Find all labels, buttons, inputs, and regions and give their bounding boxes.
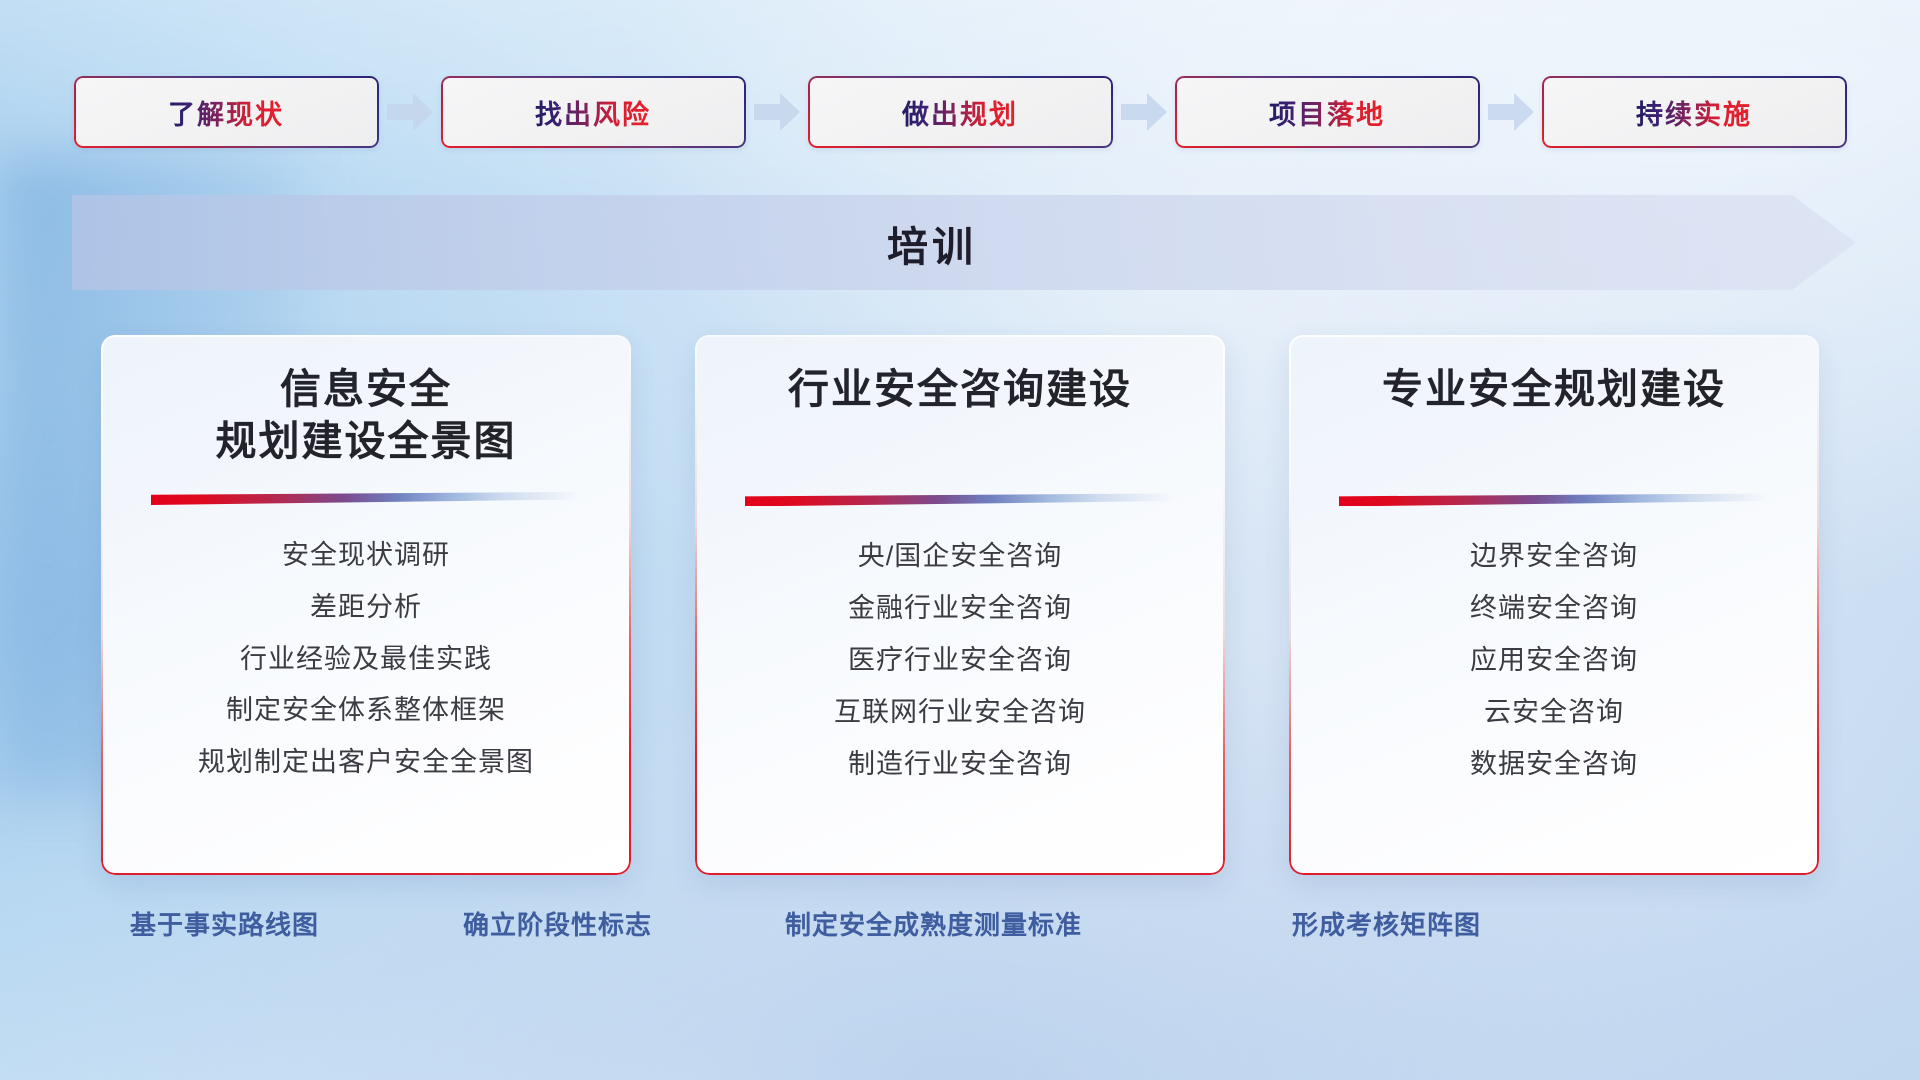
training-banner-title: 培训 bbox=[887, 213, 977, 273]
service-card-inner: 行业安全咨询建设央/国企安全咨询金融行业安全咨询医疗行业安全咨询互联网行业安全咨… bbox=[695, 335, 1225, 875]
service-card-list: 央/国企安全咨询金融行业安全咨询医疗行业安全咨询互联网行业安全咨询制造行业安全咨… bbox=[834, 536, 1086, 785]
training-banner-shape: 培训 bbox=[72, 195, 1856, 290]
arrow-right-icon bbox=[754, 93, 800, 131]
service-card-list-item: 数据安全咨询 bbox=[1470, 744, 1638, 786]
footer-label-row: 基于事实路线图确立阶段性标志制定安全成熟度测量标准形成考核矩阵图 bbox=[0, 905, 1920, 965]
arrow-right-icon bbox=[1488, 93, 1534, 131]
service-card-inner: 信息安全规划建设全景图安全现状调研差距分析行业经验及最佳实践制定安全体系整体框架… bbox=[101, 335, 631, 875]
service-card-list-item: 金融行业安全咨询 bbox=[848, 588, 1072, 630]
process-step-label: 项目落地 bbox=[1269, 93, 1385, 132]
training-banner: 培训 bbox=[72, 195, 1856, 290]
service-card-divider bbox=[151, 492, 581, 505]
process-step-label: 了解现状 bbox=[168, 93, 284, 132]
divider-gradient-line bbox=[151, 492, 581, 505]
service-card-list-item: 安全现状调研 bbox=[282, 535, 450, 577]
service-card-title-line1: 信息安全 bbox=[216, 363, 517, 415]
step-arrow-icon-1 bbox=[379, 91, 441, 133]
service-card-title: 信息安全规划建设全景图 bbox=[216, 363, 517, 468]
service-card-title-line1: 行业安全咨询建设 bbox=[788, 363, 1132, 415]
service-card-list: 边界安全咨询终端安全咨询应用安全咨询云安全咨询数据安全咨询 bbox=[1470, 536, 1638, 785]
service-card-list-item: 终端安全咨询 bbox=[1470, 588, 1638, 630]
service-card-3[interactable]: 专业安全规划建设边界安全咨询终端安全咨询应用安全咨询云安全咨询数据安全咨询 bbox=[1289, 335, 1819, 875]
divider-gradient-line bbox=[1339, 493, 1769, 506]
process-step-5[interactable]: 持续实施 bbox=[1542, 76, 1847, 148]
service-card-list-item: 边界安全咨询 bbox=[1470, 536, 1638, 578]
process-step-2[interactable]: 找出风险 bbox=[441, 76, 746, 148]
service-card-list-item: 应用安全咨询 bbox=[1470, 640, 1638, 682]
step-arrow-icon-3 bbox=[1113, 91, 1175, 133]
service-card-divider bbox=[1339, 493, 1769, 506]
service-card-title-line2: 规划建设全景图 bbox=[216, 415, 517, 467]
service-card-title: 专业安全规划建设 bbox=[1382, 363, 1726, 415]
footer-label-1: 基于事实路线图 bbox=[130, 905, 319, 942]
process-step-1[interactable]: 了解现状 bbox=[74, 76, 379, 148]
service-card-title-line1: 专业安全规划建设 bbox=[1382, 363, 1726, 415]
step-arrow-icon-2 bbox=[746, 91, 808, 133]
footer-label-2: 确立阶段性标志 bbox=[463, 905, 652, 942]
card-row: 信息安全规划建设全景图安全现状调研差距分析行业经验及最佳实践制定安全体系整体框架… bbox=[0, 335, 1920, 875]
footer-label-3: 制定安全成熟度测量标准 bbox=[785, 905, 1082, 942]
service-card-list-item: 规划制定出客户安全全景图 bbox=[198, 742, 534, 784]
service-card-list-item: 互联网行业安全咨询 bbox=[834, 692, 1086, 734]
service-card-1[interactable]: 信息安全规划建设全景图安全现状调研差距分析行业经验及最佳实践制定安全体系整体框架… bbox=[101, 335, 631, 875]
step-arrow-icon-4 bbox=[1480, 91, 1542, 133]
service-card-list-item: 云安全咨询 bbox=[1484, 692, 1624, 734]
process-step-label: 做出规划 bbox=[902, 93, 1018, 132]
process-step-label: 找出风险 bbox=[535, 93, 651, 132]
service-card-list-item: 医疗行业安全咨询 bbox=[848, 640, 1072, 682]
process-step-label: 持续实施 bbox=[1636, 93, 1752, 132]
service-card-list-item: 制造行业安全咨询 bbox=[848, 744, 1072, 786]
arrow-right-icon bbox=[387, 93, 433, 131]
process-step-4[interactable]: 项目落地 bbox=[1175, 76, 1480, 148]
service-card-divider bbox=[745, 493, 1175, 506]
service-card-title: 行业安全咨询建设 bbox=[788, 363, 1132, 415]
process-step-row: 了解现状找出风险做出规划项目落地持续实施 bbox=[0, 72, 1920, 152]
footer-label-4: 形成考核矩阵图 bbox=[1292, 905, 1481, 942]
service-card-inner: 专业安全规划建设边界安全咨询终端安全咨询应用安全咨询云安全咨询数据安全咨询 bbox=[1289, 335, 1819, 875]
service-card-list-item: 制定安全体系整体框架 bbox=[226, 690, 506, 732]
service-card-list-item: 差距分析 bbox=[310, 587, 422, 629]
arrow-right-icon bbox=[1121, 93, 1167, 131]
service-card-2[interactable]: 行业安全咨询建设央/国企安全咨询金融行业安全咨询医疗行业安全咨询互联网行业安全咨… bbox=[695, 335, 1225, 875]
service-card-list-item: 行业经验及最佳实践 bbox=[240, 639, 492, 681]
service-card-list-item: 央/国企安全咨询 bbox=[858, 536, 1063, 578]
divider-gradient-line bbox=[745, 493, 1175, 506]
process-step-3[interactable]: 做出规划 bbox=[808, 76, 1113, 148]
service-card-list: 安全现状调研差距分析行业经验及最佳实践制定安全体系整体框架规划制定出客户安全全景… bbox=[198, 535, 534, 784]
